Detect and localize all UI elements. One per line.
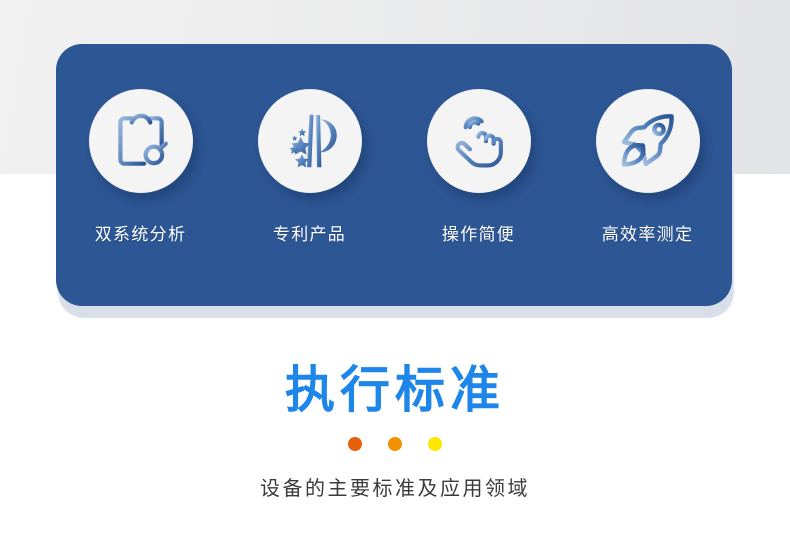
patent-star-icon bbox=[275, 106, 345, 176]
heading-block: 执行标准 设备的主要标准及应用领域 bbox=[0, 360, 790, 501]
feature-list: 双系统分析 bbox=[56, 44, 732, 306]
feature-item-dual-system-analysis[interactable]: 双系统分析 bbox=[60, 89, 222, 245]
dot-yellow bbox=[428, 437, 442, 451]
page-title: 执行标准 bbox=[0, 360, 790, 420]
rocket-icon bbox=[613, 106, 683, 176]
tap-hand-icon bbox=[445, 107, 513, 175]
feature-icon-circle bbox=[596, 89, 700, 193]
feature-icon-circle bbox=[427, 89, 531, 193]
page-subtitle: 设备的主要标准及应用领域 bbox=[0, 472, 790, 501]
feature-icon-circle bbox=[258, 89, 362, 193]
feature-label: 专利产品 bbox=[273, 220, 346, 245]
feature-item-patented-product[interactable]: 专利产品 bbox=[229, 89, 391, 245]
feature-label: 操作简便 bbox=[442, 220, 515, 245]
feature-label: 高效率测定 bbox=[602, 220, 694, 245]
feature-item-high-efficiency-measurement[interactable]: 高效率测定 bbox=[567, 89, 729, 245]
feature-item-easy-operation[interactable]: 操作简便 bbox=[398, 89, 560, 245]
dot-orange-dark bbox=[348, 437, 362, 451]
feature-icon-circle bbox=[89, 89, 193, 193]
feature-card: 双系统分析 bbox=[56, 44, 732, 306]
dot-divider bbox=[0, 436, 790, 452]
feature-label: 双系统分析 bbox=[95, 220, 187, 245]
clipboard-magnifier-icon bbox=[108, 108, 174, 174]
dot-orange bbox=[388, 437, 402, 451]
